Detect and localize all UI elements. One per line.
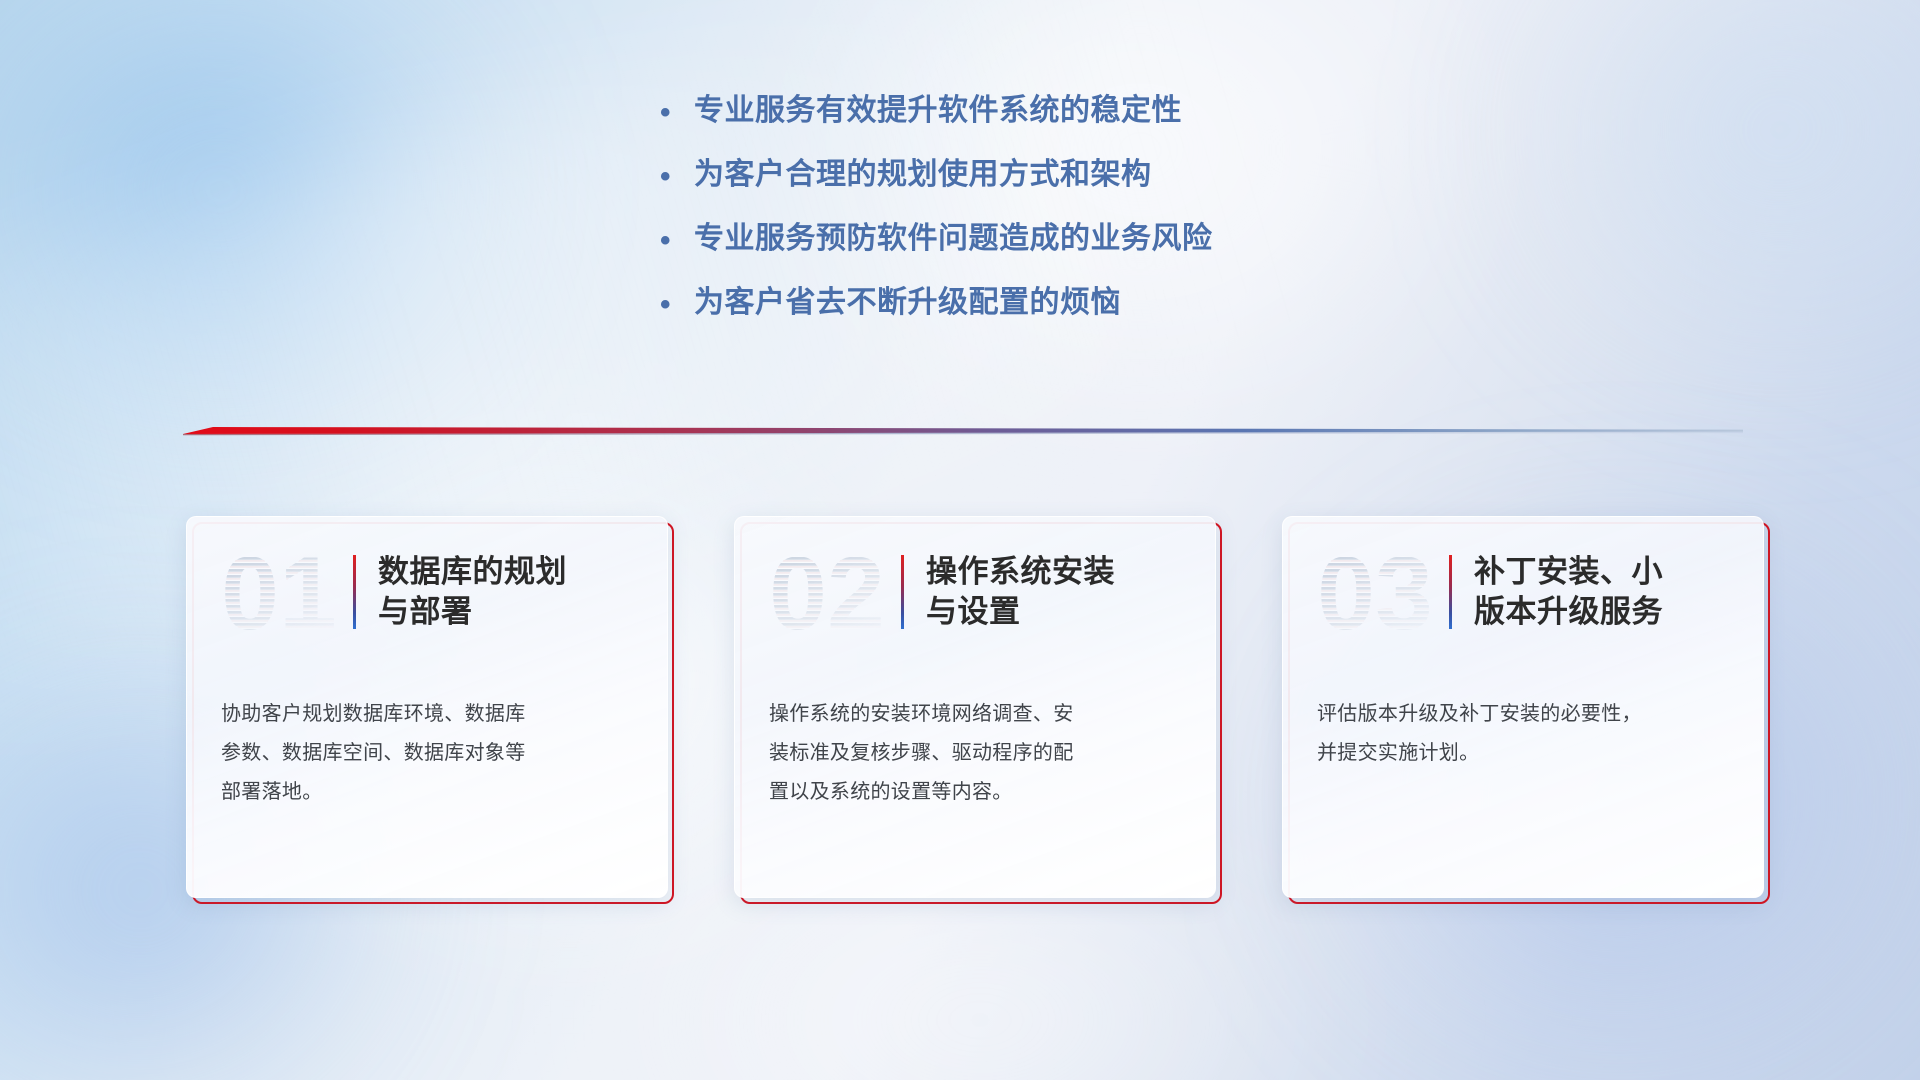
card-title: 数据库的规划 与部署: [378, 552, 567, 633]
svg-text:02: 02: [769, 536, 885, 651]
card-description: 协助客户规划数据库环境、数据库 参数、数据库空间、数据库对象等 部署落地。: [187, 667, 667, 812]
service-card[interactable]: 02 操作系统安装 与设置 操作系统的安装环境网络调查、安 装标准及复核步骤、驱…: [734, 516, 1222, 904]
card-header: 02 操作系统安装 与设置: [735, 517, 1215, 667]
svg-text:03: 03: [1317, 536, 1433, 651]
card-title: 操作系统安装 与设置: [926, 552, 1115, 633]
bullet-dot-icon: •: [660, 288, 694, 320]
list-item-label: 专业服务预防软件问题造成的业务风险: [694, 224, 1213, 254]
bullet-dot-icon: •: [660, 160, 694, 192]
list-item: • 专业服务预防软件问题造成的业务风险: [660, 224, 1213, 288]
card-number-03: 03: [1305, 533, 1445, 651]
card-description: 操作系统的安装环境网络调查、安 装标准及复核步骤、驱动程序的配 置以及系统的设置…: [735, 667, 1215, 812]
card-surface: 03 补丁安装、小 版本升级服务 评估版本升级及补丁安装的必要性， 并提交实施计…: [1282, 516, 1764, 898]
section-divider: [183, 421, 1743, 443]
card-surface: 02 操作系统安装 与设置 操作系统的安装环境网络调查、安 装标准及复核步骤、驱…: [734, 516, 1216, 898]
list-item-label: 为客户省去不断升级配置的烦恼: [694, 288, 1121, 318]
svg-text:01: 01: [221, 536, 337, 651]
card-accent-bar: [1449, 555, 1452, 629]
card-description: 评估版本升级及补丁安装的必要性， 并提交实施计划。: [1283, 667, 1763, 773]
striped-number-icon: 01: [209, 533, 349, 651]
card-accent-bar: [901, 555, 904, 629]
card-number-01: 01: [209, 533, 349, 651]
list-item-label: 为客户合理的规划使用方式和架构: [694, 160, 1152, 190]
card-header: 01 数据库的规划 与部署: [187, 517, 667, 667]
list-item: • 为客户合理的规划使用方式和架构: [660, 160, 1213, 224]
list-item: • 专业服务有效提升软件系统的稳定性: [660, 96, 1213, 160]
card-header: 03 补丁安装、小 版本升级服务: [1283, 517, 1763, 667]
divider-wedge-icon: [183, 421, 1743, 443]
card-number-02: 02: [757, 533, 897, 651]
card-surface: 01 数据库的规划 与部署 协助客户规划数据库环境、数据库 参数、数据库空间、数…: [186, 516, 668, 898]
service-card[interactable]: 01 数据库的规划 与部署 协助客户规划数据库环境、数据库 参数、数据库空间、数…: [186, 516, 674, 904]
benefits-bullet-list: • 专业服务有效提升软件系统的稳定性 • 为客户合理的规划使用方式和架构 • 专…: [660, 96, 1213, 352]
striped-number-icon: 02: [757, 533, 897, 651]
bullet-dot-icon: •: [660, 96, 694, 128]
service-card[interactable]: 03 补丁安装、小 版本升级服务 评估版本升级及补丁安装的必要性， 并提交实施计…: [1282, 516, 1770, 904]
bullet-dot-icon: •: [660, 224, 694, 256]
list-item-label: 专业服务有效提升软件系统的稳定性: [694, 96, 1182, 126]
striped-number-icon: 03: [1305, 533, 1445, 651]
list-item: • 为客户省去不断升级配置的烦恼: [660, 288, 1213, 352]
card-accent-bar: [353, 555, 356, 629]
card-title: 补丁安装、小 版本升级服务: [1474, 552, 1663, 633]
service-card-list: 01 数据库的规划 与部署 协助客户规划数据库环境、数据库 参数、数据库空间、数…: [186, 516, 1770, 904]
